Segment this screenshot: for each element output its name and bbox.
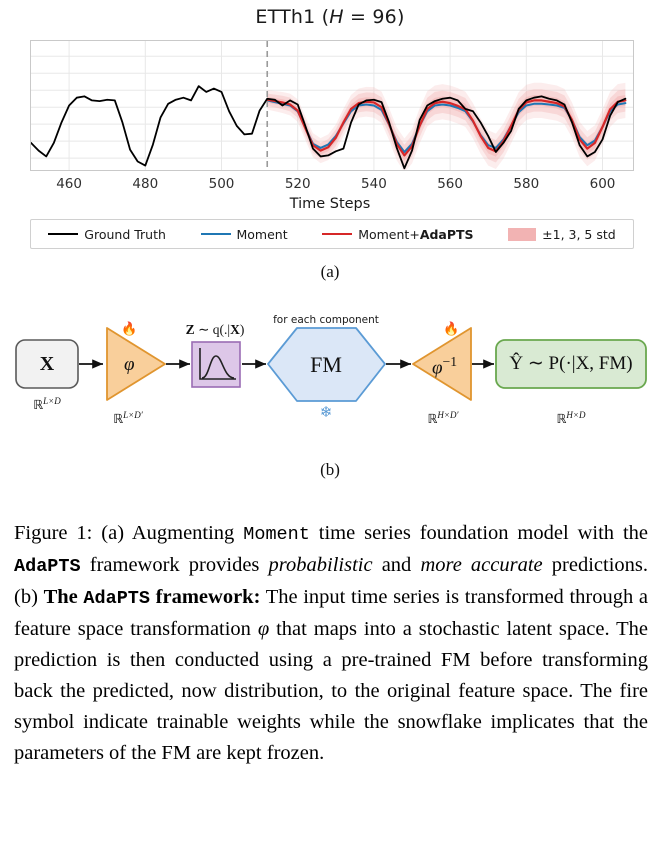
x-tick-label: 600 (590, 176, 616, 192)
x-tick-label: 480 (132, 176, 158, 192)
legend-label: Moment+AdaPTS (358, 227, 473, 242)
plot-area (30, 40, 634, 171)
node-fm-label: FM (310, 352, 342, 378)
fire-icon: 🔥 (443, 322, 459, 335)
timeseries-plot (31, 41, 633, 170)
caption-framework-name: AdaPTS (83, 588, 150, 609)
dim-encoder: ℝL×D′ (113, 410, 142, 427)
legend-label: Ground Truth (84, 227, 166, 242)
chart-title-suffix: = 96) (344, 6, 405, 28)
x-tick-label: 540 (361, 176, 387, 192)
subfigure-a-label: (a) (0, 262, 660, 282)
node-decoder-label: φ−1 (432, 354, 457, 379)
x-tick-label: 580 (513, 176, 539, 192)
dim-decoder: ℝH×D′ (428, 410, 459, 427)
caption-emph: more accurate (420, 554, 542, 576)
caption-text: time series foundation model with the (310, 522, 648, 544)
subfigure-b: X ℝL×D 🔥 φ ℝL×D′ Z ∼ q(.|X) for each com… (0, 300, 660, 490)
latent-distribution-label: Z ∼ q(.|X) (186, 322, 245, 338)
chart-title: ETTh1 (H = 96) (0, 6, 660, 28)
x-tick-label: 520 (285, 176, 311, 192)
x-tick-label: 560 (437, 176, 463, 192)
x-axis-label: Time Steps (0, 196, 660, 212)
subfigure-a: ETTh1 (H = 96) 460480500520540560580600 … (0, 0, 660, 300)
node-input-label: X (40, 353, 54, 376)
node-encoder-label: φ (124, 354, 135, 376)
legend-label: Moment (237, 227, 288, 242)
legend-item-moment-adapts: Moment+AdaPTS (322, 227, 473, 242)
subfigure-b-label: (b) (0, 460, 660, 480)
legend-line-swatch (48, 233, 78, 235)
legend-band-swatch (508, 228, 536, 241)
figure-caption: Figure 1: (a) Augmenting Moment time ser… (14, 518, 648, 769)
dim-output: ℝH×D (557, 410, 586, 427)
snowflake-icon: ❄ (320, 406, 333, 421)
legend-item-moment: Moment (201, 227, 288, 242)
dim-input: ℝL×D (33, 396, 60, 413)
chart-title-prefix: ETTh1 ( (255, 6, 329, 28)
legend-label: ±1, 3, 5 std (542, 227, 616, 242)
legend-line-swatch (322, 233, 352, 235)
caption-emph: probabilistic (269, 554, 373, 576)
chart-title-variable: H (329, 6, 344, 28)
figure-page: ETTh1 (H = 96) 460480500520540560580600 … (0, 0, 660, 843)
legend-item-std-band: ±1, 3, 5 std (508, 227, 616, 242)
caption-text: framework provides (81, 554, 269, 576)
caption-model-name: Moment (243, 524, 310, 545)
legend-line-swatch (201, 233, 231, 235)
caption-phi-symbol: φ (258, 618, 269, 640)
x-tick-label: 460 (56, 176, 82, 192)
node-output-label: Ŷ ∼ P(·|X, FM) (509, 352, 632, 375)
caption-framework-name: AdaPTS (14, 556, 81, 577)
chart-legend: Ground Truth Moment Moment+AdaPTS ±1, 3,… (30, 219, 634, 249)
fire-icon: 🔥 (121, 322, 137, 335)
x-axis-ticks: 460480500520540560580600 (30, 176, 634, 196)
fm-note: for each component (273, 314, 379, 326)
caption-bold: The (44, 586, 84, 608)
caption-text: and (373, 554, 421, 576)
caption-prefix: Figure 1: (a) Augmenting (14, 522, 243, 544)
legend-item-ground-truth: Ground Truth (48, 227, 166, 242)
caption-bold: framework: (150, 586, 260, 608)
x-tick-label: 500 (209, 176, 235, 192)
